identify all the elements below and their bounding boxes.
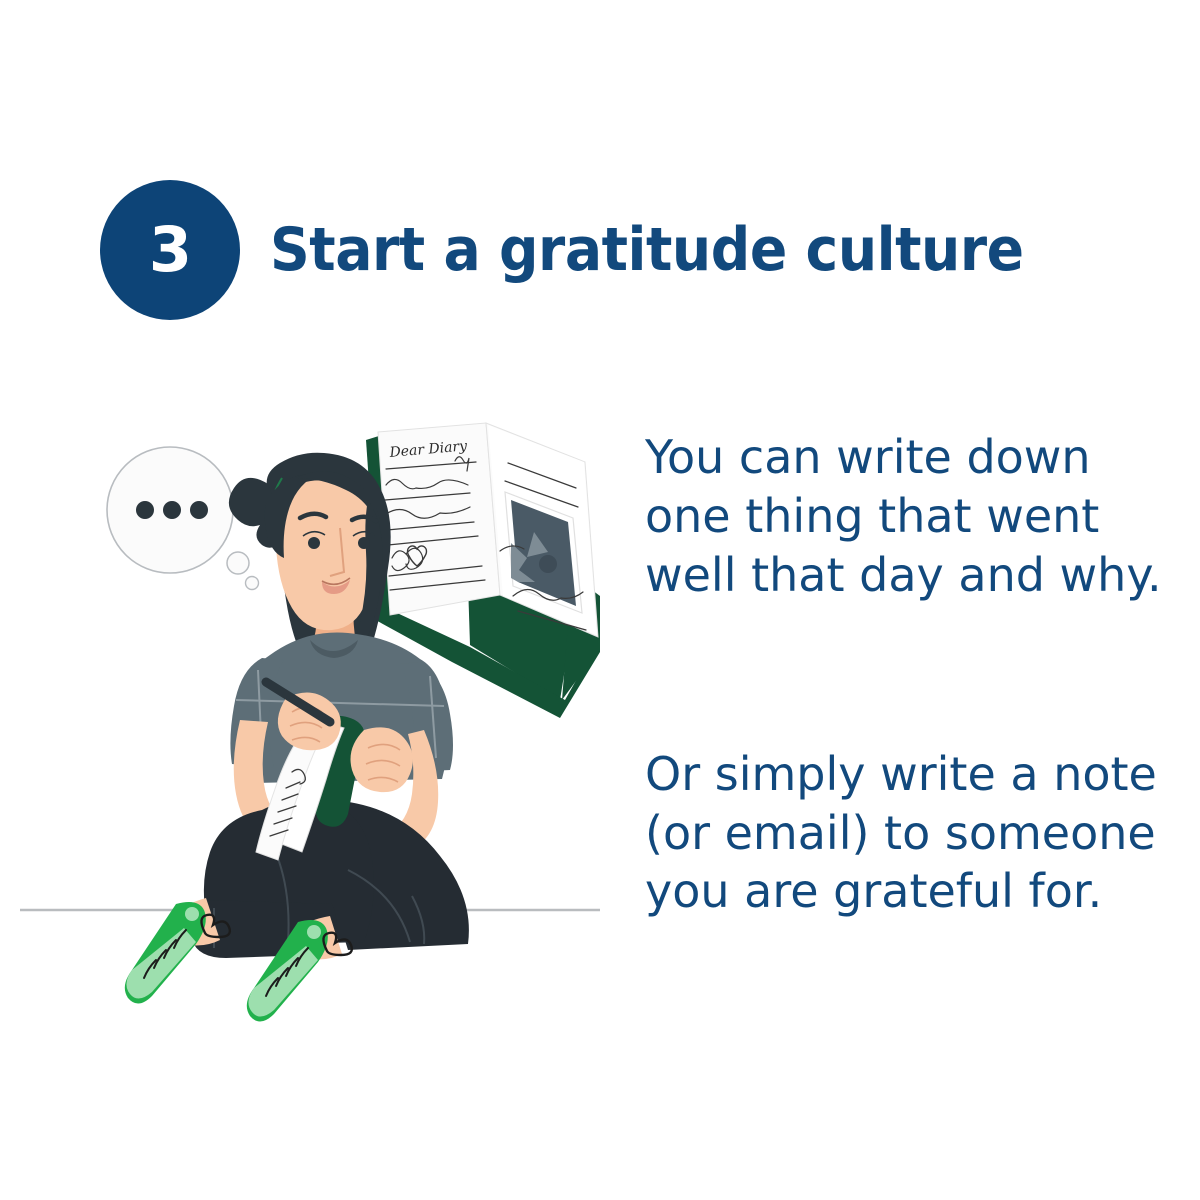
thought-bubble-icon	[107, 447, 259, 590]
body-text-column: You can write down one thing that went w…	[645, 382, 1165, 967]
poster-canvas: 3 Start a gratitude culture You can writ…	[0, 0, 1200, 1200]
illustration-woman-journaling: Dear Diary	[0, 400, 640, 1050]
page-title: Start a gratitude culture	[270, 219, 1024, 282]
body-paragraph-one: You can write down one thing that went w…	[645, 428, 1165, 605]
step-number-badge: 3	[100, 180, 240, 320]
step-number-label: 3	[149, 219, 191, 281]
eye-right-icon	[358, 537, 370, 549]
body-paragraph-two: Or simply write a note (or email) to som…	[645, 745, 1165, 922]
header: 3 Start a gratitude culture	[100, 180, 1089, 320]
eye-left-icon	[308, 537, 320, 549]
